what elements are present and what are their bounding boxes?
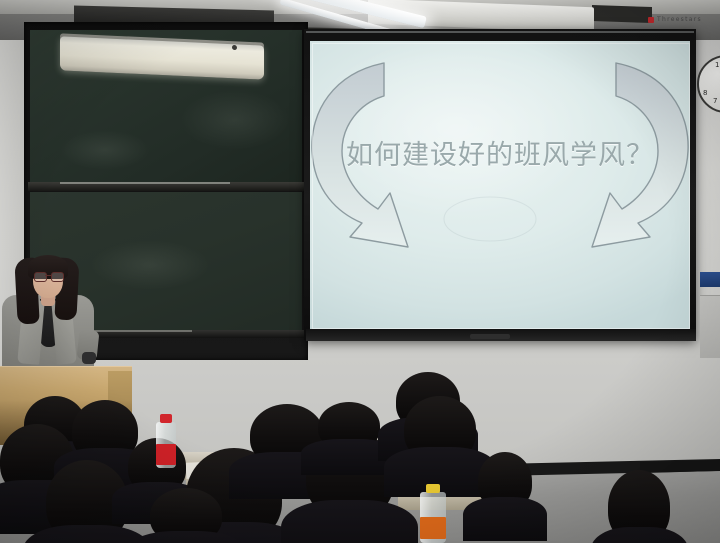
student-shoulders-8 — [281, 500, 418, 543]
clock-number-7: 7 — [713, 97, 717, 105]
clock-number-8: 8 — [703, 89, 707, 97]
eyeglasses-icon — [34, 272, 62, 280]
lamp-switch-dot-icon — [232, 45, 237, 50]
chalk-dust-line — [60, 182, 230, 184]
wall-sign — [700, 272, 720, 287]
glasses-lens-left — [34, 272, 47, 282]
screen-faint-mark — [444, 197, 536, 241]
baseboard-strip-far — [640, 460, 720, 473]
glasses-lens-right — [51, 272, 64, 282]
ceiling-dark-beam-right — [592, 5, 652, 23]
brand-label: Threestars — [657, 16, 702, 23]
water-bottle-red — [156, 414, 176, 468]
wall-panel-right — [700, 295, 720, 358]
brand-mark-icon — [648, 17, 654, 23]
slide-arrow-graphics — [310, 41, 690, 329]
chalk-smudge — [90, 240, 210, 290]
drink-bottle-orange-label — [420, 517, 446, 539]
projector-brand: Threestars — [648, 14, 710, 25]
chalk-smudge — [180, 90, 290, 150]
clock-number-11: 11 — [715, 61, 720, 69]
water-bottle-red-cap — [160, 414, 171, 423]
student-shoulders-12 — [463, 497, 547, 541]
classroom-photo: 如何建设好的班风学风？ Threestars 11 12 7 8 — [0, 0, 720, 543]
chalk-smudge — [60, 130, 150, 170]
screen-pull-tab-icon — [470, 334, 510, 339]
screen-bezel-highlight — [306, 31, 694, 33]
drink-bottle-orange — [420, 484, 446, 543]
drink-bottle-orange-cap — [426, 484, 441, 493]
slide-title: 如何建设好的班风学风？ — [310, 133, 690, 172]
water-bottle-red-label — [156, 444, 176, 465]
presenter-hand — [82, 352, 96, 364]
